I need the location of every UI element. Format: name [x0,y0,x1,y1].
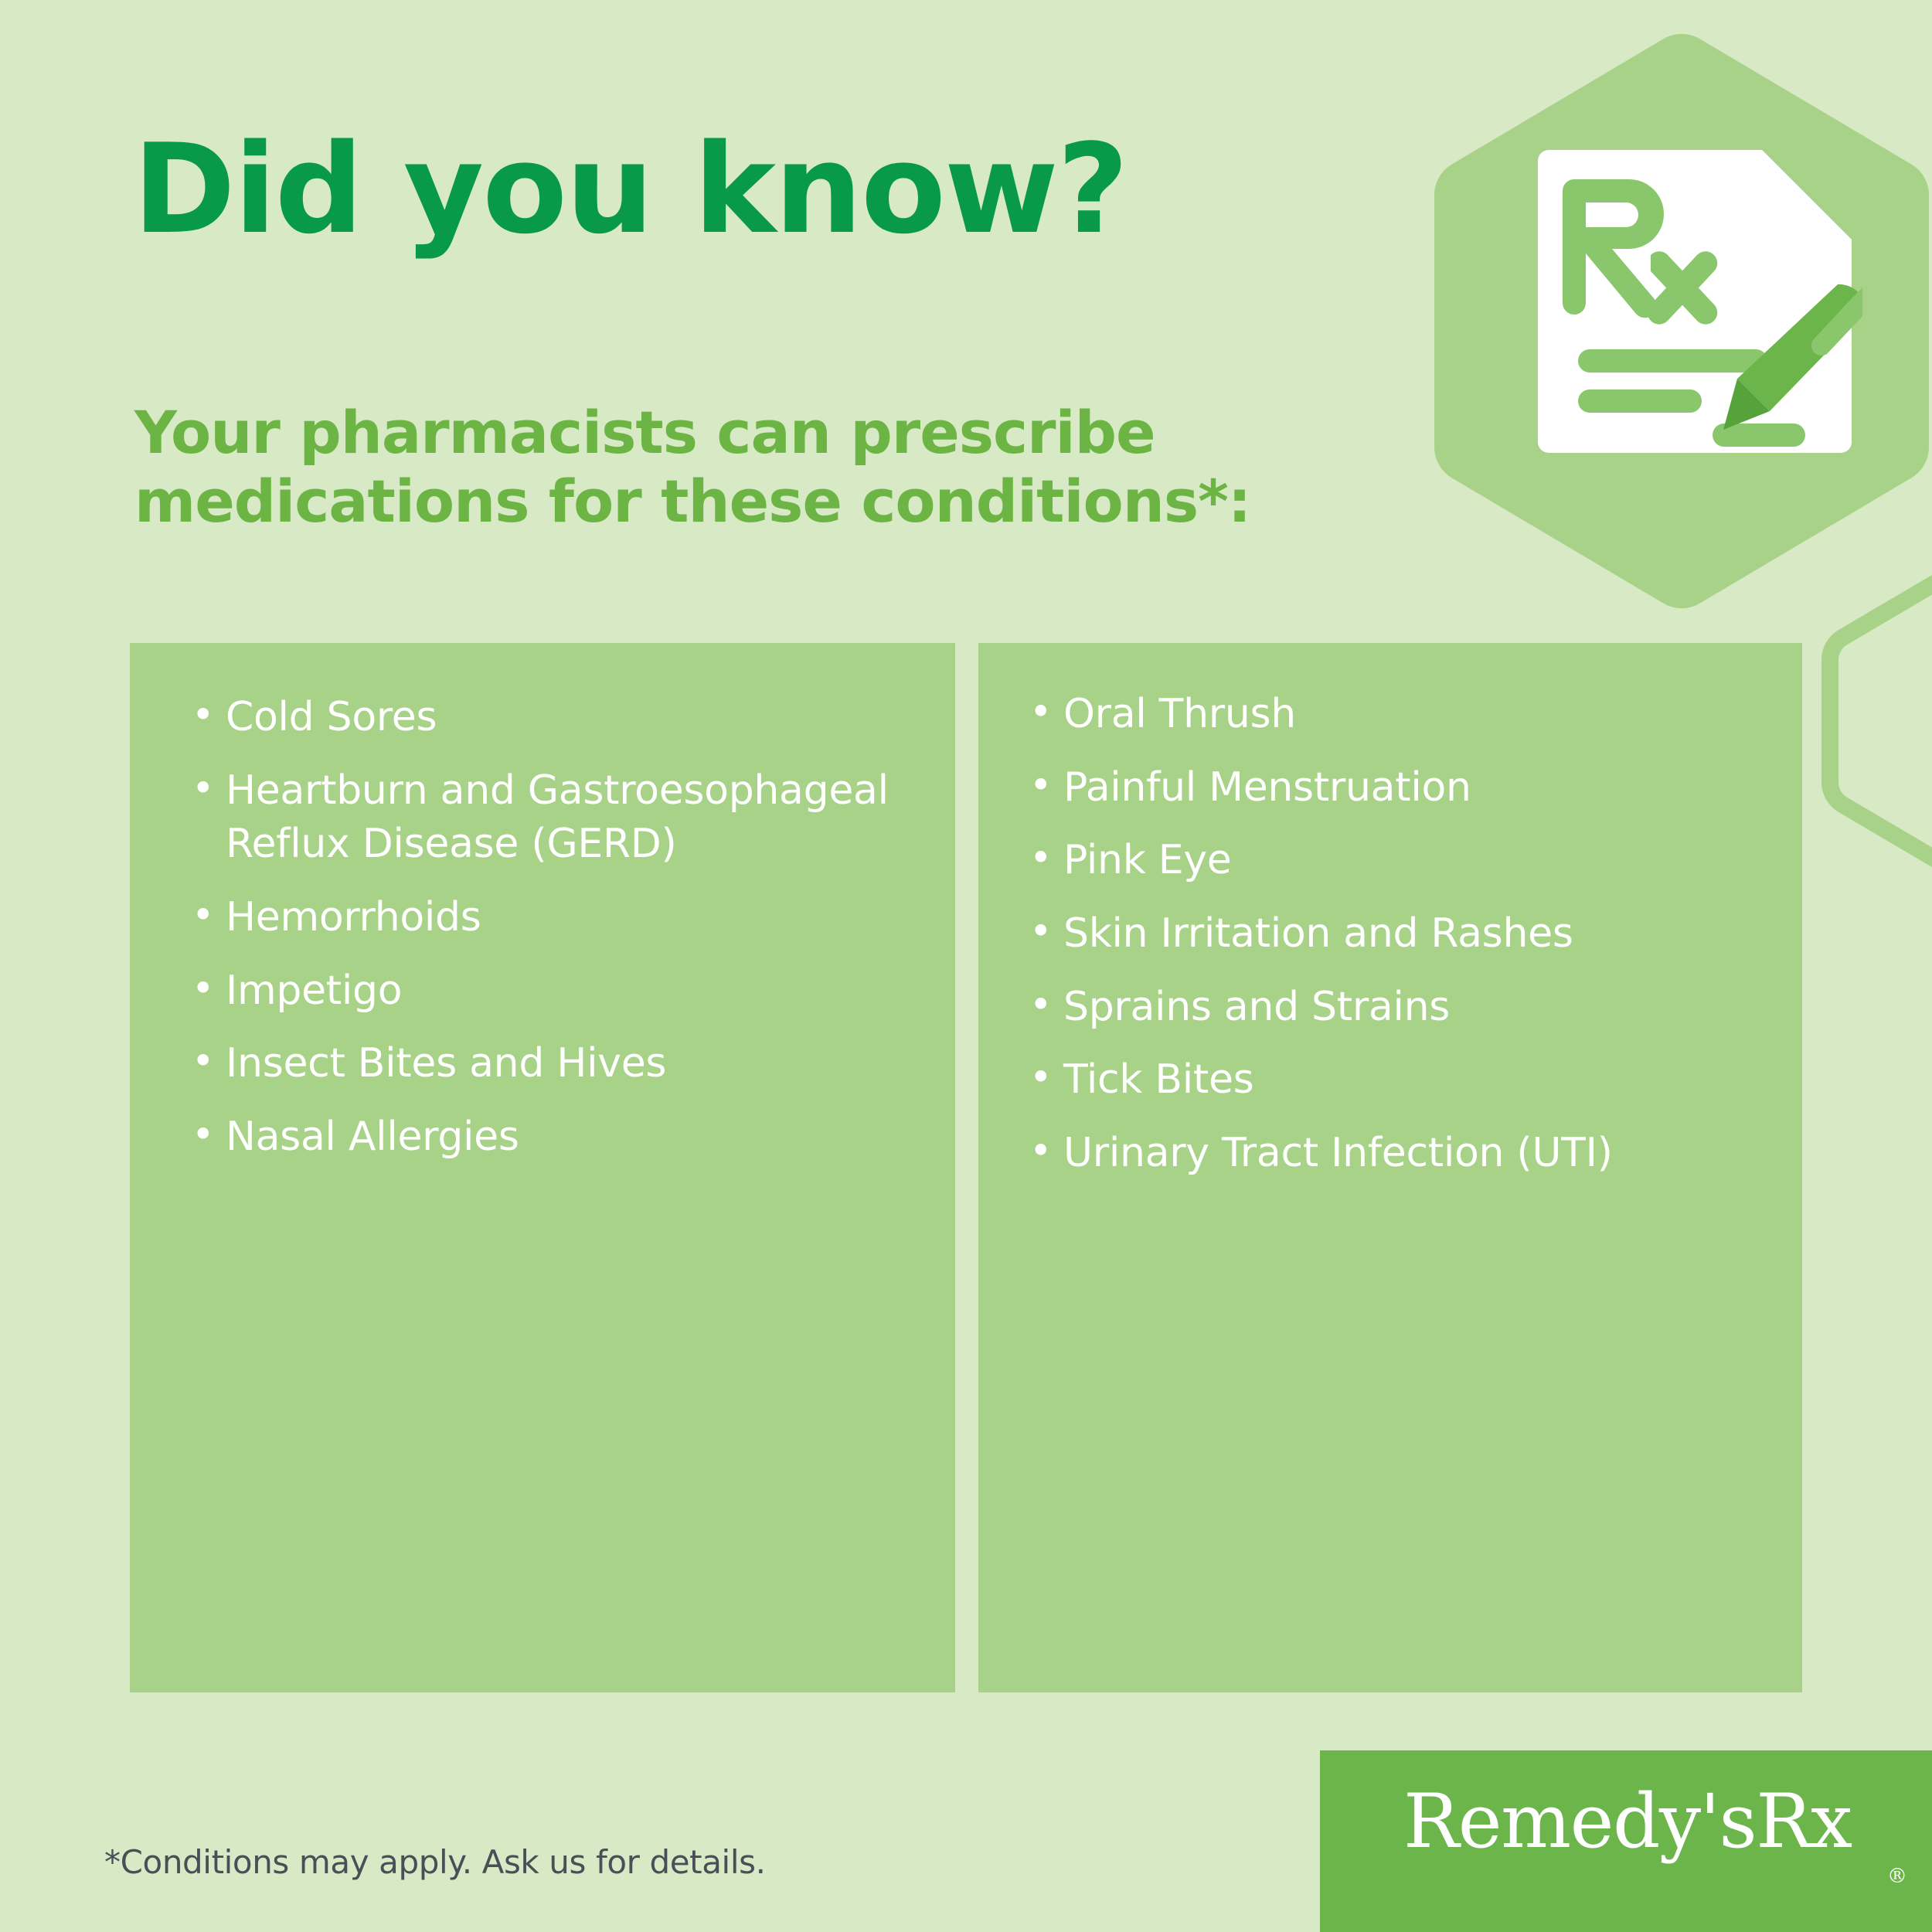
list-item: Insect Bites and Hives [189,1037,924,1091]
list-item: Heartburn and Gastroesophageal Reflux Di… [189,764,924,872]
brand-logo: Remedy'sRx ® [1320,1750,1932,1932]
document-line-2 [1578,389,1702,413]
list-item: Sprains and Strains [1026,981,1771,1035]
list-item: Tick Bites [1026,1053,1771,1107]
list-item: Cold Sores [189,691,924,745]
list-item: Oral Thrush [1026,688,1771,742]
conditions-list-right: Oral Thrush Painful Menstruation Pink Ey… [978,643,1802,1181]
brand-logo-wordmark: Remedy'sRx [1403,1784,1852,1859]
list-item: Hemorrhoids [189,891,924,945]
page-subtitle-line-2: medications for these conditions*: [134,468,1294,536]
conditions-list-left: Cold Sores Heartburn and Gastroesophagea… [130,643,955,1165]
list-item: Impetigo [189,964,924,1019]
conditions-panel-right: Oral Thrush Painful Menstruation Pink Ey… [978,643,1802,1692]
document-line-1 [1578,349,1767,372]
infographic-poster: Did you know? Your pharmacists can presc… [0,0,1932,1932]
prescription-document-icon [1538,139,1862,464]
footnote-disclaimer: *Conditions may apply. Ask us for detail… [104,1843,766,1881]
page-title: Did you know? [133,128,1128,251]
list-item: Urinary Tract Infection (UTI) [1026,1127,1771,1181]
list-item: Pink Eye [1026,834,1771,888]
hexagon-outline-icon [1830,542,1932,900]
document-folded-corner [1762,150,1852,240]
page-subtitle-line-1: Your pharmacists can prescribe [134,399,1294,468]
conditions-panel-left: Cold Sores Heartburn and Gastroesophagea… [130,643,955,1692]
list-item: Nasal Allergies [189,1111,924,1165]
registered-trademark-icon: ® [1887,1865,1907,1888]
list-item: Skin Irritation and Rashes [1026,907,1771,961]
page-subtitle: Your pharmacists can prescribe medicatio… [134,399,1294,536]
list-item: Painful Menstruation [1026,761,1771,815]
